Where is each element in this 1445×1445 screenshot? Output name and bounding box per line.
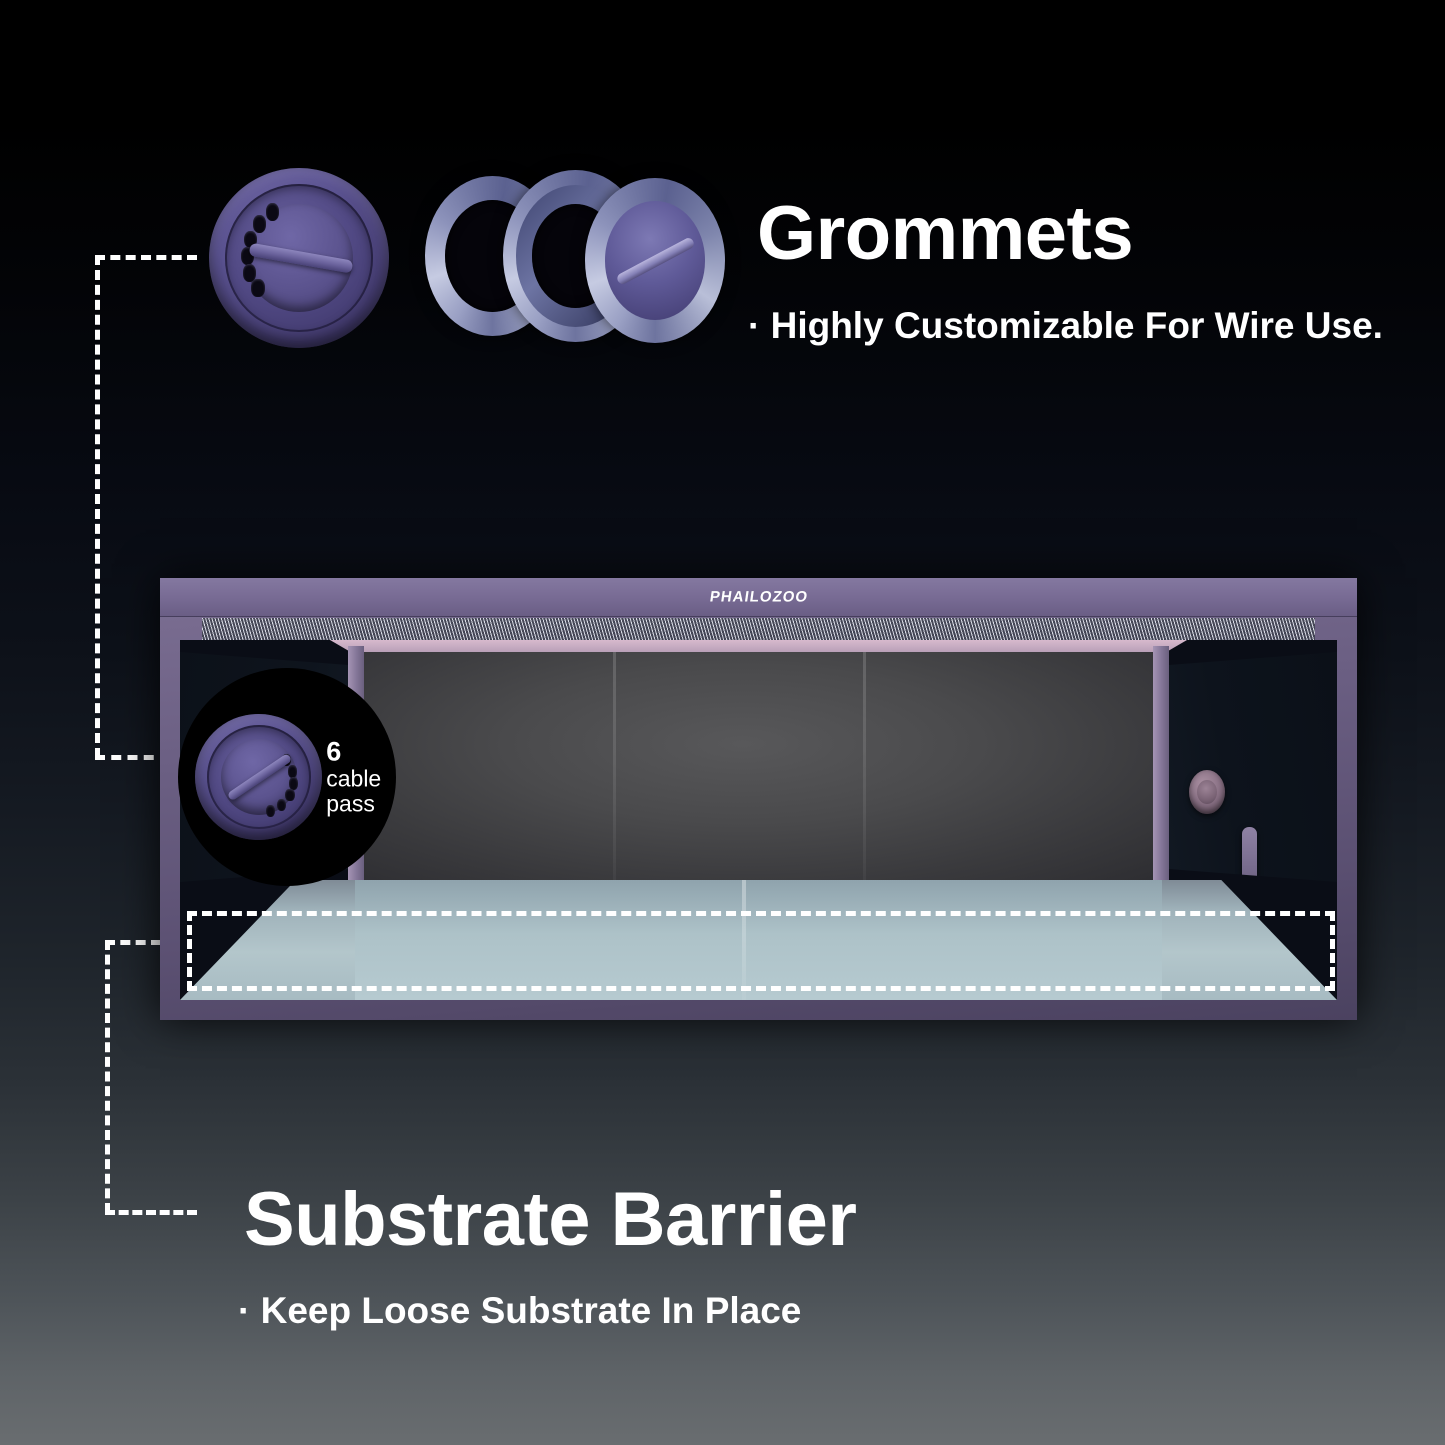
callout-labels: 6 cable pass — [326, 738, 381, 817]
right-side-panel — [1159, 652, 1337, 882]
substrate-barrier-outline — [187, 911, 1335, 991]
ventilation-mesh — [202, 618, 1315, 640]
grommets-title: Grommets — [757, 196, 1133, 272]
grommet-ring-3 — [585, 178, 725, 343]
callout-line-2: pass — [326, 792, 381, 817]
substrate-barrier-bullet: · Keep Loose Substrate In Place — [238, 1292, 801, 1329]
cable-pass-callout: 6 cable pass — [178, 668, 396, 886]
brand-logo: PHAILOZOO — [708, 589, 809, 606]
substrate-barrier-title: Substrate Barrier — [244, 1182, 856, 1258]
corner-post-right — [1153, 646, 1169, 892]
grommet-ring-stack — [425, 160, 735, 360]
grommet-exploded-illustration — [195, 160, 735, 380]
callout-count: 6 — [326, 738, 381, 767]
grommets-bullet: · Highly Customizable For Wire Use. — [748, 307, 1383, 344]
interior-back-wall — [355, 652, 1162, 882]
door-latch-handle — [1242, 827, 1257, 904]
product-feature-infographic: Grommets · Highly Customizable For Wire … — [0, 0, 1445, 1445]
callout-grommet-icon — [195, 714, 321, 840]
side-port-grommet-icon — [1189, 770, 1225, 814]
enclosure-top-bar: PHAILOZOO — [160, 578, 1357, 617]
grommet-cap-icon — [209, 168, 389, 348]
callout-line-1: cable — [326, 767, 381, 792]
